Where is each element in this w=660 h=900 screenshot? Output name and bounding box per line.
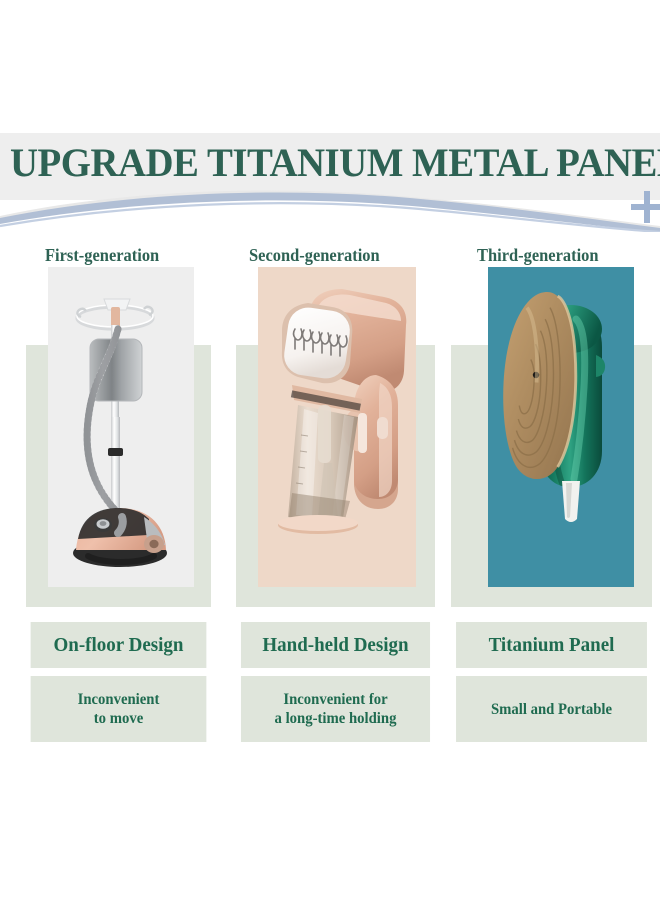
caption-subtext-line: Inconvenient [78,690,160,709]
caption-subtext-third-generation: Small and Portable [456,676,647,742]
caption-subtext-line: Inconvenient for [275,690,397,709]
caption-subtext-line: a long-time holding [275,709,397,728]
caption-title-text: Hand-held Design [262,634,408,657]
caption-subtext-block: Inconvenient for a long-time holding [275,690,397,728]
caption-title-text: Titanium Panel [489,634,615,657]
plus-icon [630,190,660,224]
compact-titanium-panel-steamer-illustration [488,267,634,587]
caption-subtext-line: to move [78,709,160,728]
caption-title-first-generation: On-floor Design [31,622,207,668]
page-title: UPGRADE TITANIUM METAL PANEL [10,139,660,187]
caption-title-second-generation: Hand-held Design [241,622,430,668]
caption-subtext-second-generation: Inconvenient for a long-time holding [241,676,430,742]
product-photo-third-generation [488,267,634,587]
caption-subtext-block: Small and Portable [491,700,612,719]
caption-subtext-line: Small and Portable [491,700,612,719]
caption-title-third-generation: Titanium Panel [456,622,647,668]
product-photo-first-generation [48,267,194,587]
column-header-third-generation: Third-generation [477,245,599,266]
product-photo-second-generation [258,267,416,587]
handheld-steamer-with-tank-illustration [258,267,416,587]
caption-subtext-first-generation: Inconvenient to move [31,676,207,742]
column-header-second-generation: Second-generation [249,245,380,266]
caption-subtext-block: Inconvenient to move [78,690,160,728]
caption-title-text: On-floor Design [53,634,183,657]
column-header-first-generation: First-generation [45,245,159,266]
floor-standing-garment-steamer-illustration [48,267,194,587]
